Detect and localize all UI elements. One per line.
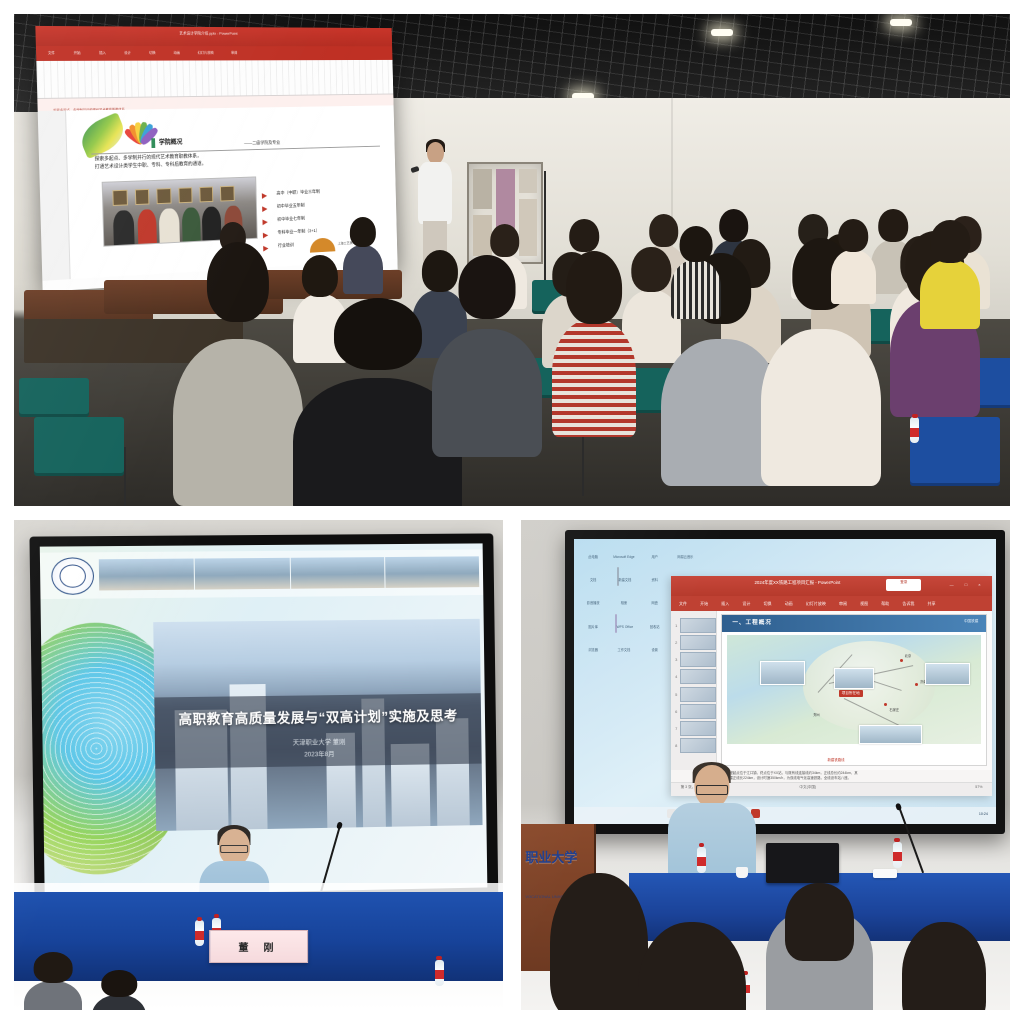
audience-member [671, 260, 721, 319]
lecture-hall-wide-photo: 艺术设计学院介绍.pptx - PowerPoint 文件 开始 插入 设计 切… [14, 14, 1010, 506]
desktop-icon-label: 网易云音乐 [677, 555, 693, 559]
audience-chair [910, 417, 1000, 486]
tripod-stand [544, 171, 546, 284]
projector-screen-frame: 此电脑 Microsoft Edge 用户 网易云音乐 文档 新建文档 资料 工… [565, 530, 1005, 834]
presenter-head [427, 142, 443, 164]
ceiling-light [711, 29, 733, 36]
ribbon-tab[interactable]: 插入 [99, 51, 106, 56]
laptop [766, 843, 839, 882]
slide-title-dash: ——二级学院及专业 [244, 140, 280, 147]
arc-logo-icon [309, 238, 334, 253]
thumbnail-preview [680, 687, 716, 702]
document-icon [617, 567, 619, 586]
powerpoint-ribbon-tabs: 文件 开始 插入 设计 切换 动画 幻灯片放映 审阅 [36, 46, 393, 61]
map-label: 石家庄 [890, 707, 900, 712]
university-seal-icon [51, 557, 94, 595]
powerpoint-titlebar: 2024年度XX铁路工程项目汇报 - PowerPoint 登录 — □ × [671, 576, 992, 596]
slide-thumbnail[interactable]: 5 [672, 687, 716, 702]
thumbnail-number: 3 [672, 657, 677, 662]
name-plate: 董 刚 [209, 930, 309, 964]
desktop-icon-work[interactable]: 工作文档 [611, 638, 637, 656]
desktop-icon-user[interactable]: 用户 [642, 545, 668, 563]
desktop-icon-photos[interactable]: 图片库 [580, 615, 606, 633]
ribbon-tab[interactable]: 幻灯片放映 [197, 51, 213, 56]
chair-leg [124, 447, 126, 506]
water-bottle [910, 417, 919, 443]
taskbar-clock[interactable]: 10:24 [979, 812, 988, 816]
ribbon-tab-home[interactable]: 开始 [700, 601, 708, 607]
language-indicator[interactable]: 中文(中国) [799, 785, 816, 790]
slide-thumbnail-pane[interactable]: 1 2 3 4 5 6 7 8 [671, 611, 717, 769]
signin-button[interactable]: 登录 [886, 579, 921, 591]
slide-thumbnail-pane[interactable] [38, 111, 71, 281]
slide-section-bar: 一、工程概况 中国铁建 [722, 615, 987, 632]
desktop-icon-此电脑[interactable]: 此电脑 [580, 545, 606, 563]
ribbon-tab-design[interactable]: 设计 [742, 601, 750, 607]
map-highlight-label: 项目所在地 [839, 690, 863, 697]
audience-chair [19, 378, 89, 417]
ribbon-tab[interactable]: 开始 [73, 51, 80, 56]
thumbnail-number: 4 [672, 674, 677, 679]
campus-banner: 高职教育高质量发展与“双高计划”实施及思考 天津职业大学 董刚 2023年8月 [153, 618, 482, 831]
powerpoint-main: 1 2 3 4 5 6 7 8 一、工程概况 中国铁建 [671, 611, 992, 769]
desktop-icon-newdoc[interactable]: 新建文档 [611, 568, 637, 586]
desktop-icon-label: 影音播放 [587, 601, 600, 605]
powerpoint-ribbon-tabs: 文件 开始 插入 设计 切换 动画 幻灯片放映 审阅 视图 帮助 告诉我 共享 [671, 596, 992, 611]
slide-thumbnail[interactable]: 2 [672, 635, 716, 650]
slide-bullet: 高中（中职）毕业三年制 [261, 187, 384, 197]
tissue-box [873, 869, 897, 878]
paper-cup [736, 867, 748, 878]
office-icon [615, 614, 617, 633]
ribbon-tab-animations[interactable]: 动画 [785, 601, 793, 607]
ribbon-tab[interactable]: 文件 [48, 51, 55, 56]
notes-line-2: 中新建正线长224km，设计时速350km/h，为双线电气化高速铁路，全线设车站… [723, 776, 986, 781]
ribbon-tab-file[interactable]: 文件 [679, 601, 687, 607]
presenter-shirt [418, 162, 452, 223]
desktop-icon-label: 工作文档 [618, 648, 631, 652]
thumbnail-preview [680, 704, 716, 719]
desktop-icon-label: 网盘 [651, 601, 657, 605]
desktop-icon-edge[interactable]: Microsoft Edge [611, 545, 637, 563]
thumbnail-preview [680, 738, 716, 753]
window-controls[interactable]: — □ × [950, 582, 986, 587]
desktop-icon-label: 文档 [590, 578, 596, 582]
desktop-icon-music[interactable]: 网易云音乐 [672, 545, 698, 563]
desktop-icon-wps[interactable]: WPS Office [611, 615, 637, 633]
thumbnail-preview [680, 652, 716, 667]
desktop-icon-label: 资料 [651, 578, 657, 582]
project-location-map: 北京 天津 石家庄 济南 郑州 项目所在地 [727, 635, 981, 745]
map-label: 北京 [905, 653, 911, 658]
slide-thumbnail[interactable]: 3 [672, 652, 716, 667]
desktop-icon-label: 图片库 [588, 625, 598, 629]
thumbnail-number: 5 [672, 692, 677, 697]
ribbon-tab-help[interactable]: 帮助 [881, 601, 889, 607]
thumbnail-preview [680, 721, 716, 736]
color-fan-icon [111, 122, 166, 147]
seated-speaker-photo: 高职教育高质量发展与“双高计划”实施及思考 天津职业大学 董刚 2023年8月 … [14, 520, 503, 1010]
photo-collage: 艺术设计学院介绍.pptx - PowerPoint 文件 开始 插入 设计 切… [0, 0, 1024, 1024]
thumbnail-number: 6 [672, 709, 677, 714]
water-bottle [195, 920, 204, 946]
slide-thumbnail[interactable]: 1 [672, 618, 716, 633]
audience-member [432, 329, 542, 457]
desktop-icon-album[interactable]: 相册 [611, 591, 637, 609]
ribbon-tab[interactable]: 切换 [149, 51, 156, 56]
audience-member [173, 339, 302, 506]
zoom-level[interactable]: 57% [975, 785, 982, 789]
audience-member [761, 329, 881, 486]
ribbon-tab-view[interactable]: 视图 [860, 601, 868, 607]
slide-section-title: 一、工程概况 [732, 618, 772, 626]
slide-thumbnail[interactable]: 7 [672, 721, 716, 736]
powerpoint-ribbon[interactable] [36, 60, 393, 99]
desktop-icon-label: Microsoft Edge [613, 555, 634, 559]
audience-member [831, 250, 876, 304]
ribbon-tab[interactable]: 设计 [124, 51, 131, 56]
desktop-icon-label: 回收站 [650, 625, 660, 629]
corner-logo-text: 中国铁建 [964, 619, 978, 624]
audience-member [920, 260, 980, 329]
thumbnail-number: 1 [672, 623, 677, 628]
audience-member [343, 245, 383, 294]
ribbon-tab-tellme[interactable]: 告诉我 [902, 601, 914, 607]
ceiling-light [890, 19, 912, 26]
desktop-icon-docs[interactable]: 文档 [580, 568, 606, 586]
slide-header-strip [40, 549, 484, 598]
thumbnail-number: 2 [672, 640, 677, 645]
name-plate-given: 刚 [263, 939, 278, 954]
desktop-icon-label: 相册 [621, 601, 627, 605]
desktop-icon-browser[interactable]: 浏览器 [580, 638, 606, 656]
thumbnail-preview [680, 669, 716, 684]
audience-member [552, 319, 637, 437]
powerpoint-title-text: 艺术设计学院介绍.pptx - PowerPoint [179, 31, 237, 37]
thumbnail-preview [680, 618, 716, 633]
desktop-icon-label: 设置 [651, 648, 657, 652]
map-inset-photo [834, 668, 874, 690]
desktop-icon-label: WPS Office [617, 625, 633, 629]
desktop-icon-label: 此电脑 [588, 555, 598, 559]
slide-bottom-tag: 新建铁路线 [828, 757, 845, 762]
desktop-icon-cloud[interactable]: 网盘 [642, 591, 668, 609]
windows-taskbar[interactable]: 10:24 [574, 807, 997, 824]
slide-bullet: 初中毕业五年制 [262, 199, 385, 210]
slide-main-title: 高职教育高质量发展与“双高计划”实施及思考 [167, 704, 468, 728]
slide-工程概况: 一、工程概况 中国铁建 [721, 614, 988, 766]
map-inset-photo [925, 663, 970, 685]
powerpoint-titlebar: 艺术设计学院介绍.pptx - PowerPoint [35, 26, 392, 46]
desktop-icon-settings[interactable]: 设置 [642, 638, 668, 656]
thumbnail-number: 8 [672, 743, 677, 748]
audience-head [785, 883, 853, 961]
map-inset-photo [859, 725, 922, 745]
thumbnail-preview [680, 635, 716, 650]
audience-member [550, 873, 648, 1010]
desktop-icon-recycle[interactable]: 回收站 [642, 615, 668, 633]
map-inset-photo [760, 661, 805, 685]
slide-title: 学院概况 [159, 137, 183, 146]
water-bottle [435, 960, 444, 986]
desktop-icon-media[interactable]: 影音播放 [580, 591, 606, 609]
desktop-icon-materials[interactable]: 资料 [642, 568, 668, 586]
slide-thumbnail[interactable]: 8 [672, 738, 716, 753]
powerpoint-title-text: 2024年度XX铁路工程项目汇报 - PowerPoint [754, 580, 840, 586]
podium-text: 职业大学 [525, 847, 577, 866]
desktop-icon-label: 新建文档 [619, 578, 632, 582]
table-front-edge [14, 883, 503, 893]
campus-photo-strip [98, 556, 479, 591]
audience-chair [34, 417, 124, 476]
eyeglasses-icon [220, 845, 248, 853]
share-button[interactable]: 共享 [928, 601, 936, 607]
ribbon-tab[interactable]: 动画 [173, 51, 180, 56]
slide-thumbnail[interactable]: 4 [672, 669, 716, 684]
water-bottle [697, 847, 706, 873]
ribbon-tab-slideshow[interactable]: 幻灯片放映 [806, 601, 826, 607]
ribbon-tab[interactable]: 审阅 [231, 51, 238, 56]
eyeglasses-icon [696, 785, 728, 795]
desktop-icon-label: 用户 [651, 555, 657, 559]
desktop-icon-label: 浏览器 [588, 648, 598, 652]
standing-speaker-photo: 此电脑 Microsoft Edge 用户 网易云音乐 文档 新建文档 资料 工… [521, 520, 1010, 1010]
name-plate-surname: 董 [238, 939, 253, 954]
ribbon-tab-insert[interactable]: 插入 [721, 601, 729, 607]
ribbon-tab-transitions[interactable]: 切换 [764, 601, 772, 607]
slide-thumbnail[interactable]: 6 [672, 704, 716, 719]
projected-desktop: 此电脑 Microsoft Edge 用户 网易云音乐 文档 新建文档 资料 工… [574, 539, 997, 825]
audience-member [902, 922, 985, 1010]
ribbon-tab-review[interactable]: 审阅 [839, 601, 847, 607]
water-bottle [893, 842, 902, 868]
thumbnail-number: 7 [672, 726, 677, 731]
map-label: 郑州 [813, 712, 819, 717]
